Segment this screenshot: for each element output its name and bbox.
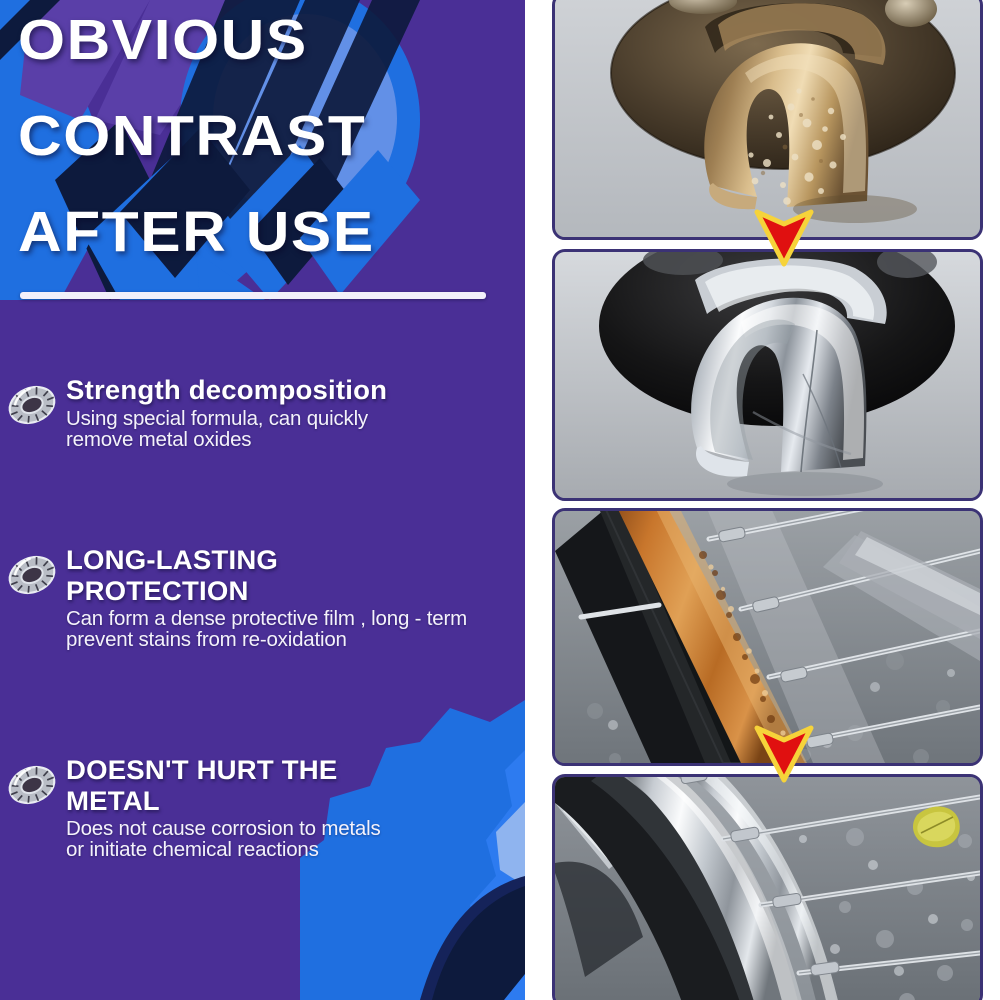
headline-line-1: OBVIOUS	[18, 12, 308, 69]
gear-icon-svg	[4, 757, 60, 813]
feature-text-block: DOESN'T HURT THE METAL Does not cause co…	[66, 755, 525, 861]
down-arrow-icon	[753, 206, 815, 268]
promo-graphic: OBVIOUS CONTRAST AFTER USE	[0, 0, 1000, 1000]
left-content-panel: OBVIOUS CONTRAST AFTER USE	[0, 0, 525, 1000]
feature-title: DOESN'T HURT THE METAL	[66, 755, 520, 816]
photo-rim-after	[555, 777, 980, 1000]
feature-item-strength: Strength decomposition Using special for…	[0, 375, 525, 450]
feature-title: Strength decomposition	[66, 375, 520, 406]
pipe-before-art	[555, 0, 980, 237]
pipe-after-art	[555, 252, 980, 498]
photo-pipe-before	[555, 0, 980, 237]
down-arrow-svg	[753, 206, 815, 268]
headline-line-3: AFTER USE	[18, 204, 375, 261]
feature-description: Can form a dense protective film , long …	[66, 608, 511, 651]
photo-card-pipe-after	[552, 249, 983, 501]
down-arrow-icon	[753, 722, 815, 784]
rim-after-art	[555, 777, 980, 1000]
gear-icon	[4, 757, 60, 813]
feature-item-protection: LONG-LASTING PROTECTION Can form a dense…	[0, 545, 525, 651]
photo-pipe-after	[555, 252, 980, 498]
feature-description: Does not cause corrosion to metals or in…	[66, 818, 511, 861]
photo-comparison-column	[552, 0, 984, 1000]
headline-underline	[20, 292, 486, 299]
down-arrow-svg	[753, 722, 815, 784]
feature-text-block: LONG-LASTING PROTECTION Can form a dense…	[66, 545, 525, 651]
feature-description: Using special formula, can quickly remov…	[66, 408, 511, 451]
gear-icon	[4, 377, 60, 433]
gear-icon-svg	[4, 377, 60, 433]
feature-item-safe-metal: DOESN'T HURT THE METAL Does not cause co…	[0, 755, 525, 861]
headline-line-2: CONTRAST	[18, 108, 366, 165]
photo-card-pipe-before	[552, 0, 983, 240]
gear-icon	[4, 547, 60, 603]
feature-title: LONG-LASTING PROTECTION	[66, 545, 520, 606]
gear-icon-svg	[4, 547, 60, 603]
feature-text-block: Strength decomposition Using special for…	[66, 375, 525, 450]
photo-card-rim-after	[552, 774, 983, 1000]
